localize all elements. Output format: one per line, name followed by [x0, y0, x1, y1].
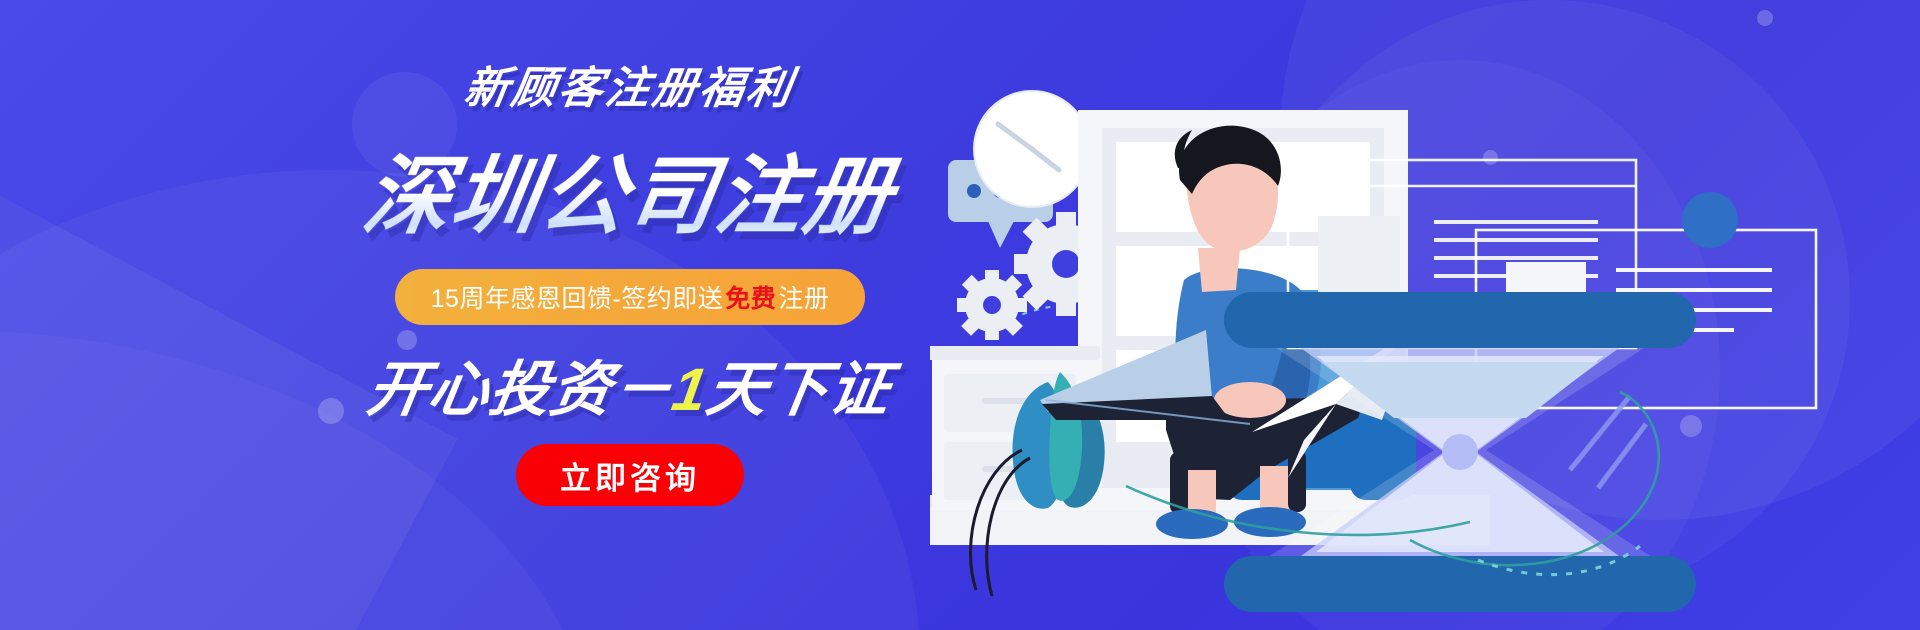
wall-clock-icon [974, 91, 1090, 207]
promo-banner: 新顾客注册福利 深圳公司注册 15周年感恩回馈-签约即送免费注册 开心投资－1天… [0, 0, 1920, 630]
tagline-text: 开心投资－1天下证 [323, 341, 937, 428]
promo-prefix: 15周年感恩回馈-签约即送 [431, 279, 724, 315]
page-title: 深圳公司注册 [320, 126, 940, 251]
hero-illustration [930, 0, 1920, 630]
promo-suffix: 注册 [778, 279, 829, 315]
banner-copy: 新顾客注册福利 深圳公司注册 15周年感恩回馈-签约即送免费注册 开心投资－1天… [330, 52, 930, 506]
promo-highlight: 免费 [723, 279, 778, 315]
consult-now-button[interactable]: 立即咨询 [516, 444, 744, 506]
eyebrow-text: 新顾客注册福利 [325, 52, 935, 116]
promo-badge: 15周年感恩回馈-签约即送免费注册 [395, 269, 865, 325]
gear-small-icon [957, 270, 1027, 340]
tagline-suffix: 天下证 [702, 356, 896, 423]
tagline-prefix: 开心投资－ [363, 356, 679, 423]
